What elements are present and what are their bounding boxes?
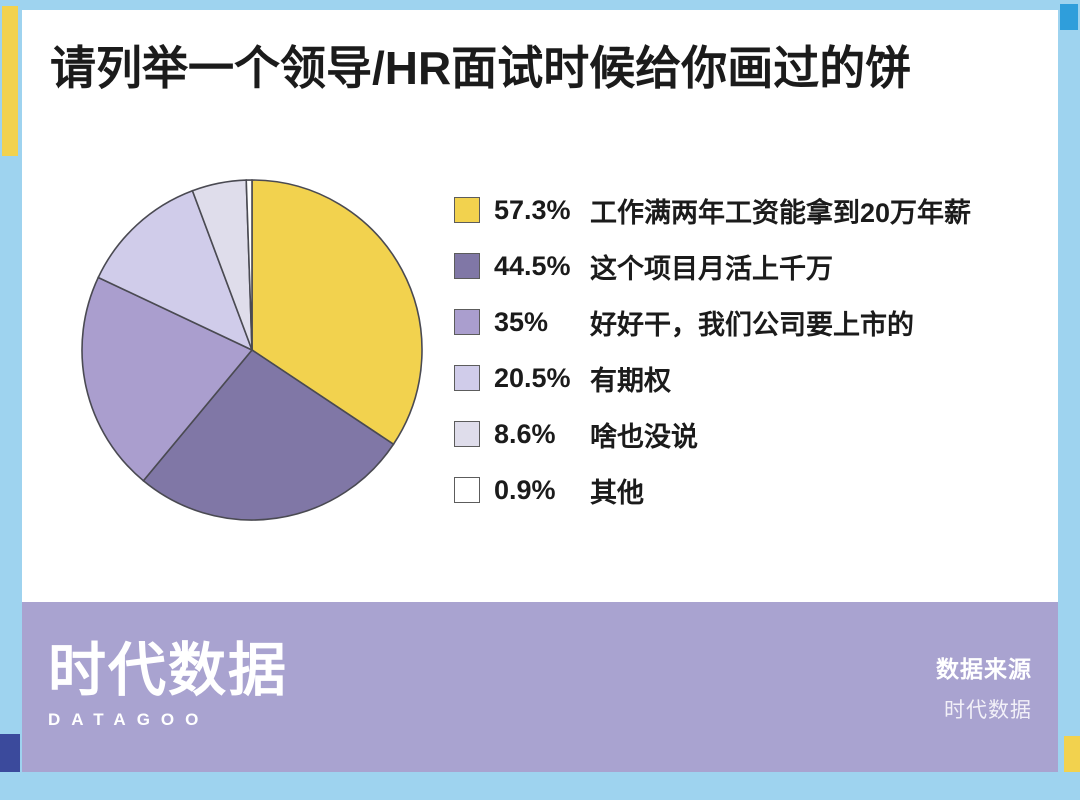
accent-block-bottomleft-navy — [0, 734, 20, 772]
legend-percent: 57.3% — [494, 195, 590, 226]
data-source-title: 数据来源 — [936, 650, 1032, 684]
legend-color-swatch — [454, 197, 480, 223]
legend-percent: 35% — [494, 307, 590, 338]
legend-label: 好好干，我们公司要上市的 — [590, 303, 914, 342]
legend-label: 这个项目月活上千万 — [590, 247, 833, 286]
pie-chart-svg — [62, 160, 442, 540]
chart-legend: 57.3%工作满两年工资能拿到20万年薪44.5%这个项目月活上千万35%好好干… — [454, 182, 1054, 518]
accent-bar-left-yellow — [2, 6, 18, 156]
legend-label: 有期权 — [590, 359, 671, 398]
page-title: 请列举一个领导/HR面试时候给你画过的饼 — [50, 32, 911, 98]
legend-item: 0.9%其他 — [454, 462, 1054, 518]
legend-label: 工作满两年工资能拿到20万年薪 — [590, 191, 971, 230]
legend-color-swatch — [454, 309, 480, 335]
footer-bar: 时代数据 DATAGOO 数据来源 时代数据 — [22, 602, 1058, 772]
legend-item: 57.3%工作满两年工资能拿到20万年薪 — [454, 182, 1054, 238]
legend-percent: 44.5% — [494, 251, 590, 282]
brand-logo-subtitle: DATAGOO — [48, 710, 288, 730]
legend-percent: 0.9% — [494, 475, 590, 506]
frame-top-border — [0, 0, 1080, 10]
accent-block-bottomright-yellow — [1064, 736, 1080, 772]
frame-bottom-border — [0, 772, 1080, 800]
legend-percent: 8.6% — [494, 419, 590, 450]
pie-slice-group — [82, 180, 422, 520]
data-source-value: 时代数据 — [936, 694, 1032, 724]
data-source: 数据来源 时代数据 — [936, 650, 1032, 724]
accent-block-topright-blue — [1060, 4, 1078, 30]
brand-logo-mark: 时代数据 — [48, 642, 288, 700]
legend-color-swatch — [454, 477, 480, 503]
frame-right-border — [1058, 0, 1080, 800]
legend-color-swatch — [454, 365, 480, 391]
pie-chart — [62, 160, 442, 540]
legend-item: 44.5%这个项目月活上千万 — [454, 238, 1054, 294]
legend-item: 8.6%啥也没说 — [454, 406, 1054, 462]
infographic-poster: 请列举一个领导/HR面试时候给你画过的饼 57.3%工作满两年工资能拿到20万年… — [0, 0, 1080, 800]
content-card: 请列举一个领导/HR面试时候给你画过的饼 57.3%工作满两年工资能拿到20万年… — [22, 10, 1058, 602]
legend-item: 20.5%有期权 — [454, 350, 1054, 406]
legend-label: 啥也没说 — [590, 415, 698, 454]
legend-label: 其他 — [590, 471, 644, 510]
legend-item: 35%好好干，我们公司要上市的 — [454, 294, 1054, 350]
legend-percent: 20.5% — [494, 363, 590, 394]
legend-color-swatch — [454, 421, 480, 447]
legend-color-swatch — [454, 253, 480, 279]
brand-logo: 时代数据 DATAGOO — [48, 642, 288, 730]
